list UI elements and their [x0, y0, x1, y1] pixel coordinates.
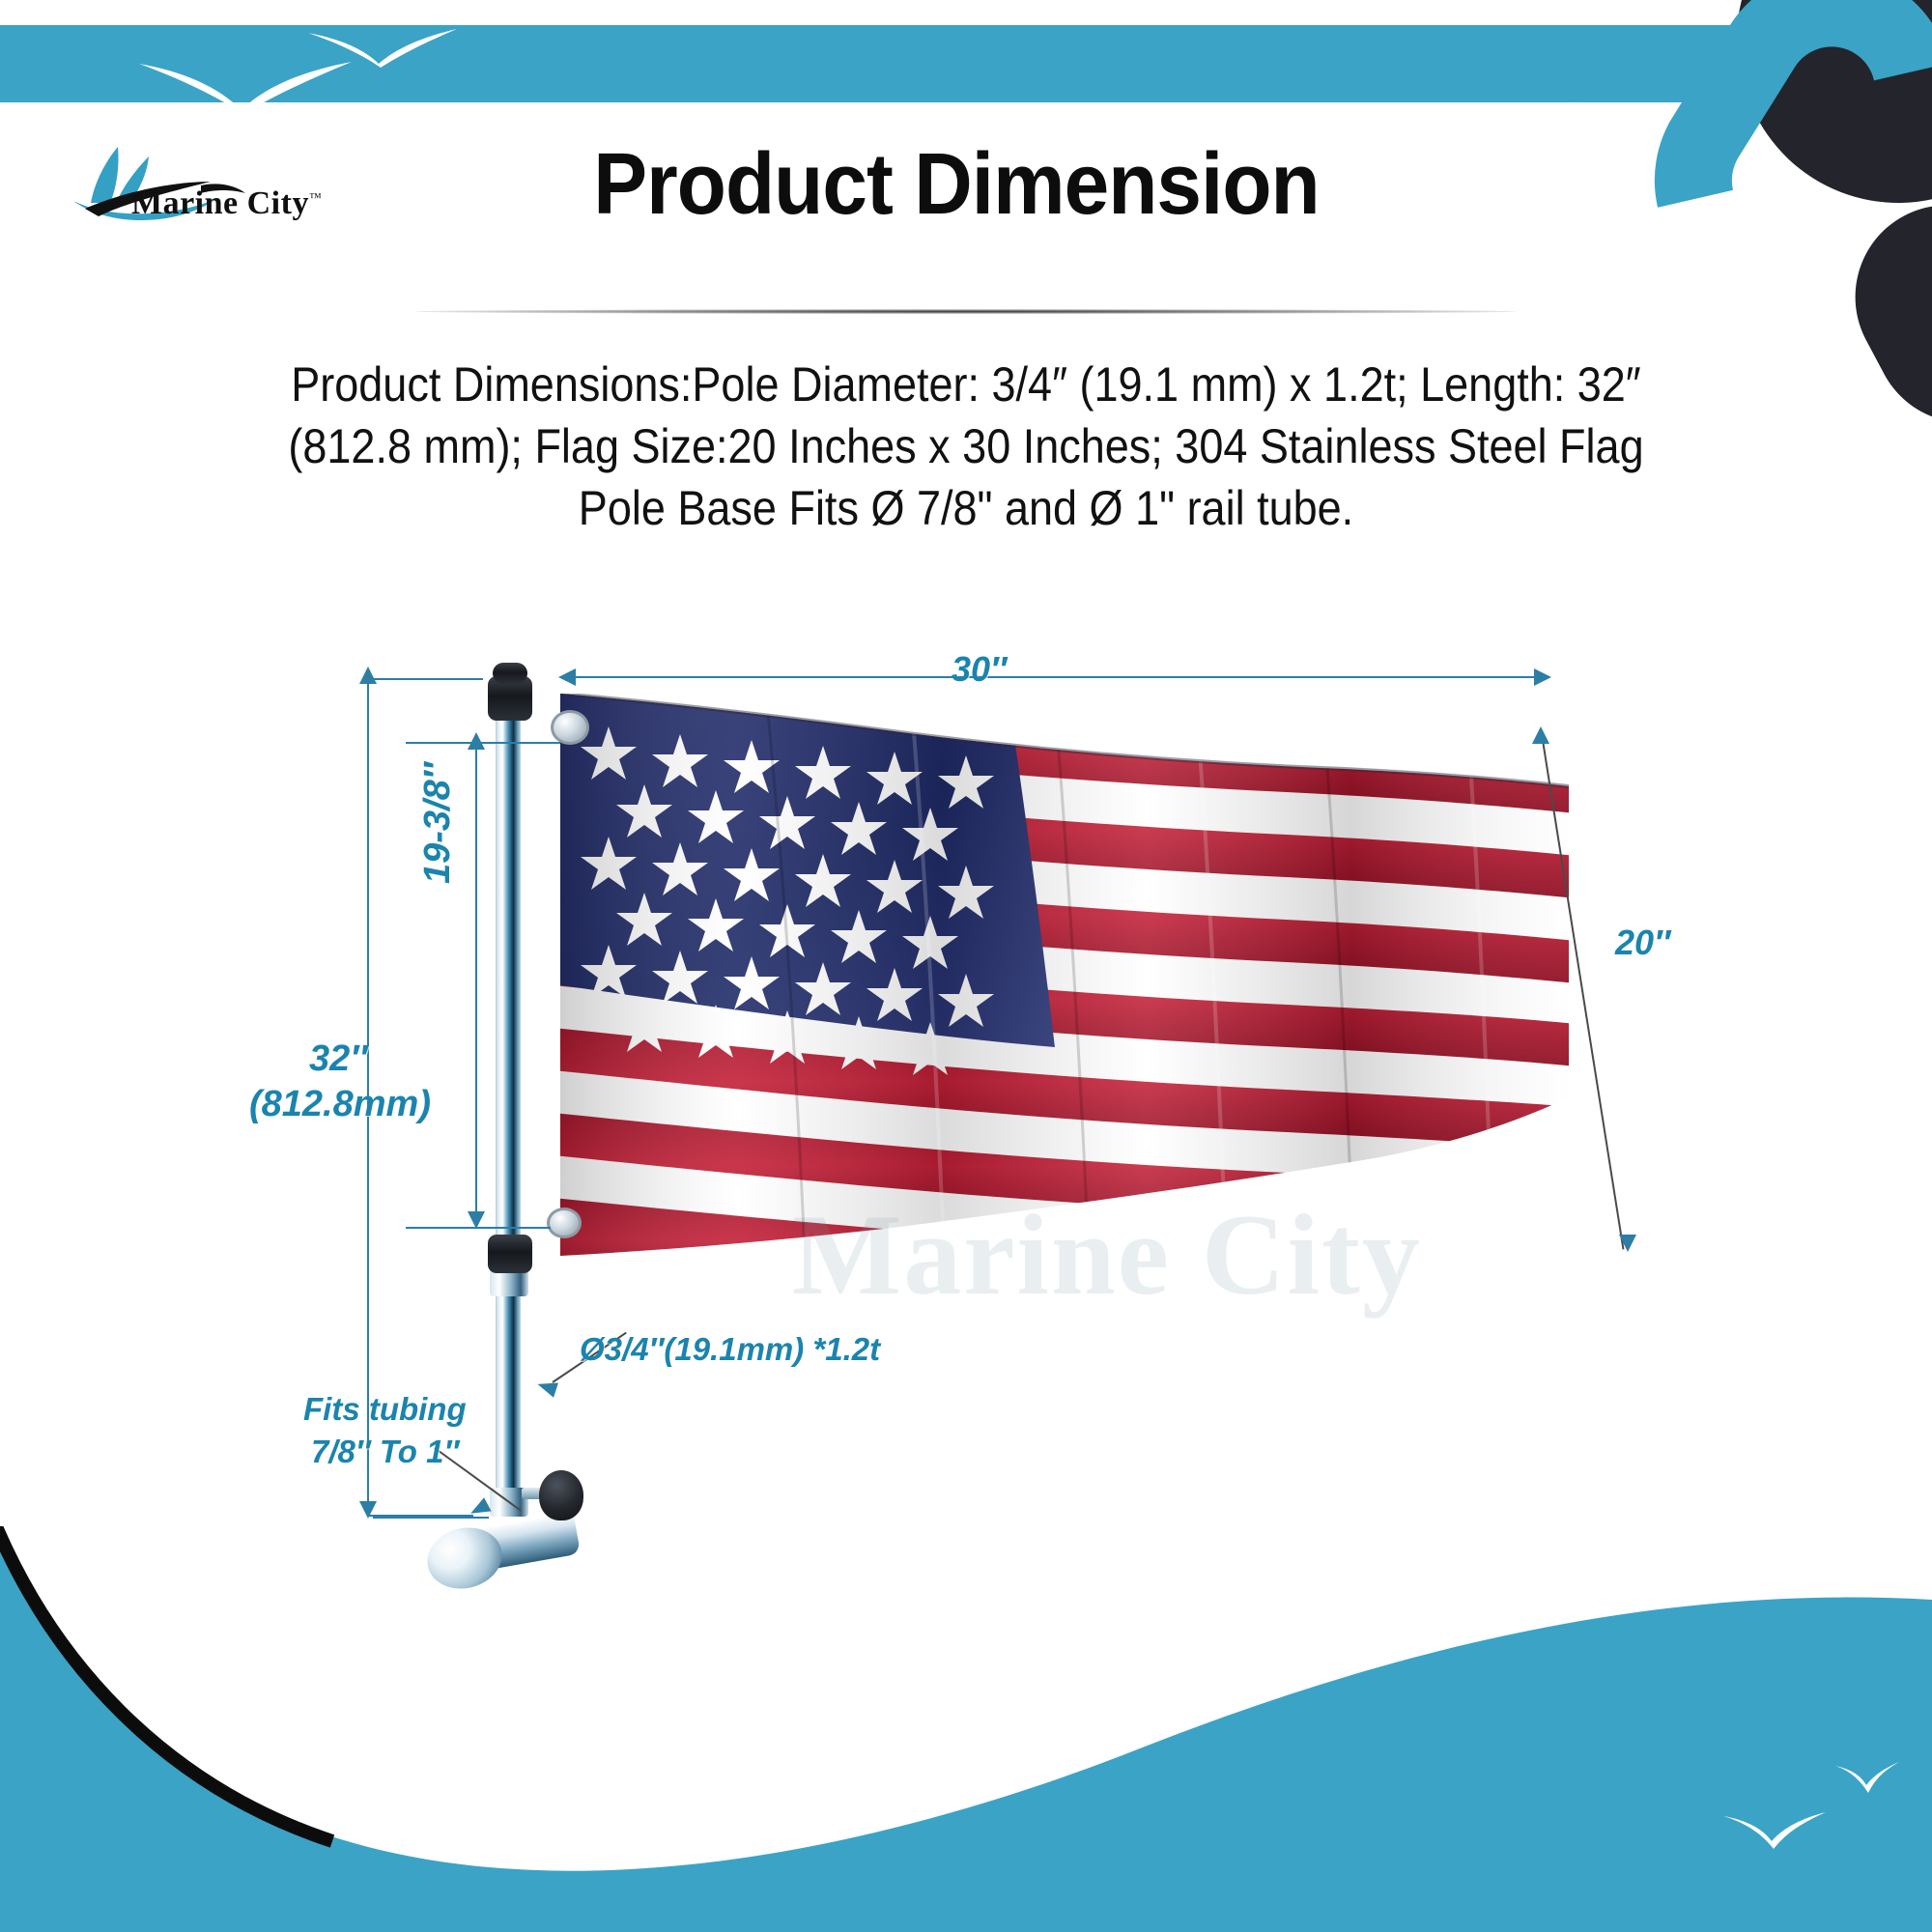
arrow-right-flag-width	[1534, 668, 1551, 686]
flag-clip-ring-top	[551, 710, 589, 745]
infographic-page: Marine City™ Product Dimension Product D…	[0, 0, 1932, 1932]
arrow-top-flag-hoist	[468, 732, 485, 750]
label-pole-diameter: Ø3/4″(19.1mm) *1.2t	[580, 1331, 880, 1368]
arrow-bottom-flag-height	[1619, 1235, 1636, 1252]
label-pole-length: 32″	[309, 1038, 367, 1080]
bottom-wave-decoration	[0, 1526, 1932, 1932]
flag-pole	[496, 681, 521, 1512]
base-tightening-knob	[539, 1470, 583, 1520]
arrow-left-flag-width	[558, 668, 576, 686]
dimension-line-flag-hoist	[475, 744, 477, 1227]
label-fits-tubing-2: 7/8″ To 1″	[311, 1434, 459, 1470]
arrow-top-flag-height	[1532, 726, 1549, 744]
pole-top-cap	[493, 663, 527, 684]
usa-flag-image	[553, 694, 1577, 1273]
extension-line-hoist-top	[406, 742, 560, 744]
label-flag-height: 20″	[1615, 923, 1670, 963]
flag-clip-bottom	[488, 1235, 532, 1273]
label-flag-hoist: 19-3/8″	[417, 762, 459, 884]
label-flag-width: 30″	[952, 649, 1007, 690]
extension-line-pole-top	[367, 678, 483, 680]
label-fits-tubing-1: Fits tubing	[303, 1391, 467, 1428]
flag-clip-ring-bottom	[547, 1207, 582, 1238]
leader-line-fits-tubing	[373, 1517, 489, 1519]
arrow-top-pole-length	[359, 667, 377, 684]
extension-line-hoist-bottom	[406, 1227, 551, 1229]
label-pole-length-mm: (812.8mm)	[249, 1084, 431, 1125]
dimension-line-flag-width	[572, 676, 1548, 678]
